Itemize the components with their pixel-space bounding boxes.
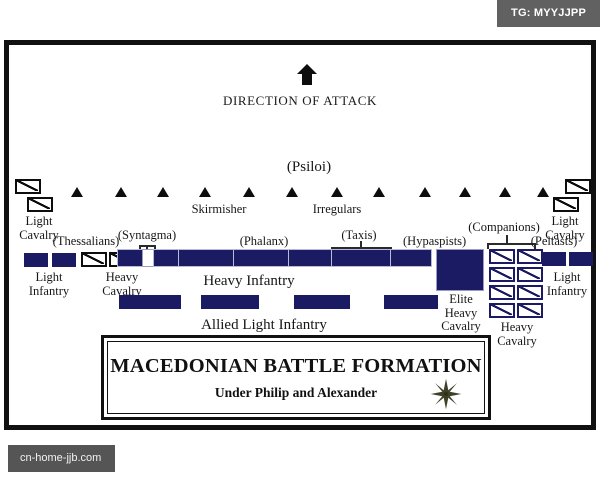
allied-light-infantry-block <box>294 295 350 309</box>
diagram-page: TG: MYYJJPP DIRECTION OF ATTACK (Psiloi)… <box>0 0 600 480</box>
phalanx-label: (Phalanx) <box>204 235 324 249</box>
psiloi-label: (Psiloi) <box>229 159 389 175</box>
cavalry-box-icon <box>565 179 591 194</box>
taxis-bracket-stem <box>360 241 362 248</box>
battlefield-canvas: DIRECTION OF ATTACK (Psiloi) Skirmisher … <box>9 45 591 425</box>
direction-of-attack-label: DIRECTION OF ATTACK <box>9 93 591 109</box>
peltasts-label: (Peltasts) <box>507 235 600 249</box>
telegram-watermark: TG: MYYJJPP <box>497 0 600 27</box>
cavalry-box-icon <box>15 179 41 194</box>
cavalry-box-icon <box>553 197 579 212</box>
right-light-infantry-block <box>542 252 566 266</box>
triangle-skirmisher-icon <box>459 187 471 197</box>
companions-heavy-cavalry-label: Heavy Cavalry <box>481 321 553 348</box>
triangle-skirmisher-icon <box>331 187 343 197</box>
companion-cavalry-icon <box>489 285 515 300</box>
left-heavy-cavalry-label: Heavy Cavalry <box>81 271 163 298</box>
phalanx-segment <box>153 249 179 267</box>
allied-light-infantry-block <box>119 295 181 309</box>
skirmisher-label: Skirmisher <box>159 203 279 217</box>
allied-light-infantry-block <box>201 295 259 309</box>
left-light-infantry-block <box>24 253 48 267</box>
phalanx-segment <box>288 249 332 267</box>
allied-light-infantry-block <box>384 295 438 309</box>
title-cartouche: MACEDONIAN BATTLE FORMATION Under Philip… <box>101 335 491 420</box>
cavalry-box-icon <box>27 197 53 212</box>
triangle-skirmisher-icon <box>419 187 431 197</box>
triangle-skirmisher-icon <box>157 187 169 197</box>
arrow-up-icon <box>295 63 319 87</box>
companion-cavalry-icon <box>489 249 515 264</box>
triangle-skirmisher-icon <box>499 187 511 197</box>
left-light-infantry-block <box>52 253 76 267</box>
triangle-skirmisher-icon <box>537 187 549 197</box>
phalanx-segment <box>117 249 143 267</box>
diagram-frame: DIRECTION OF ATTACK (Psiloi) Skirmisher … <box>4 40 596 430</box>
diagram-title: MACEDONIAN BATTLE FORMATION <box>110 355 481 378</box>
heavy-infantry-label: Heavy Infantry <box>159 273 339 289</box>
phalanx-segment <box>178 249 234 267</box>
compass-rose-icon <box>426 377 466 411</box>
companion-cavalry-icon <box>489 267 515 282</box>
triangle-skirmisher-icon <box>243 187 255 197</box>
companion-cavalry-icon <box>517 249 543 264</box>
phalanx-segment <box>233 249 289 267</box>
companion-cavalry-icon <box>517 303 543 318</box>
right-light-infantry-label: Light Infantry <box>533 271 600 298</box>
phalanx-segment <box>331 249 391 267</box>
site-watermark: cn-home-jjb.com <box>8 445 115 472</box>
triangle-skirmisher-icon <box>286 187 298 197</box>
right-light-infantry-block <box>569 252 593 266</box>
diagram-subtitle: Under Philip and Alexander <box>215 385 377 401</box>
triangle-skirmisher-icon <box>115 187 127 197</box>
cavalry-box-icon <box>81 252 107 267</box>
syntagma-label: (Syntagma) <box>87 229 207 243</box>
triangle-skirmisher-icon <box>199 187 211 197</box>
elite-heavy-cavalry-block <box>436 249 484 291</box>
taxis-label: (Taxis) <box>309 229 409 243</box>
triangle-skirmisher-icon <box>71 187 83 197</box>
phalanx-segment <box>390 249 432 267</box>
allied-light-infantry-label: Allied Light Infantry <box>149 317 379 333</box>
triangle-skirmisher-icon <box>373 187 385 197</box>
irregulars-label: Irregulars <box>277 203 397 217</box>
left-light-infantry-label: Light Infantry <box>15 271 83 298</box>
companion-cavalry-icon <box>489 303 515 318</box>
